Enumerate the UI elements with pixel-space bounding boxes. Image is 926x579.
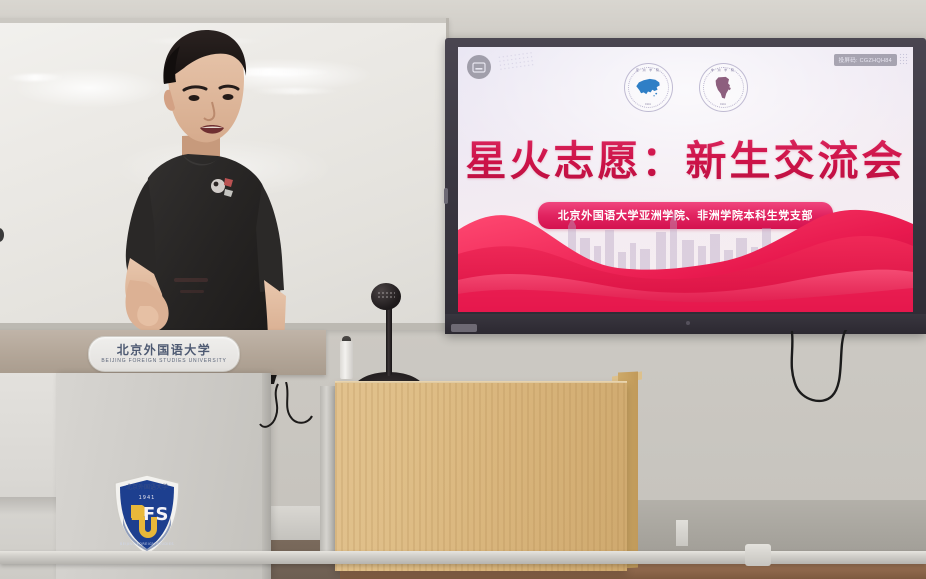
- svg-text:BEIJING FOREIGN STUDIES: BEIJING FOREIGN STUDIES: [120, 542, 174, 546]
- whiteboard-knob: [0, 228, 4, 242]
- asian-studies-emblem-ring-text: · 亚 洲 学 院 ·: [625, 68, 672, 72]
- desk-metal-leg: [320, 386, 336, 562]
- podium-base-shadow: [0, 497, 60, 515]
- whiteboard-frame-top: [0, 18, 446, 23]
- african-studies-emblem-year: 1941: [700, 103, 747, 106]
- asian-studies-emblem: · 亚 洲 学 院 · 1941: [624, 63, 673, 112]
- african-studies-emblem-ring-text: · 非 洲 学 院 ·: [700, 68, 747, 72]
- slide-emblem-row: · 亚 洲 学 院 · 1941 · 非 洲 学 院 ·: [458, 63, 913, 112]
- podium-body: 北京外国语大学 1941 B F S BEIJING FOREIGN STUDI…: [56, 373, 271, 579]
- slide-title: 星火志愿：新生交流会: [458, 127, 913, 187]
- asian-studies-emblem-year: 1941: [625, 103, 672, 106]
- interactive-display[interactable]: 投屏码: CGZHQH84 · 亚 洲 学 院 · 1941: [445, 38, 926, 334]
- microphone-grille: [377, 291, 395, 299]
- rail-clip: [745, 544, 771, 566]
- red-wave-decoration: [458, 202, 913, 312]
- svg-text:S: S: [156, 504, 169, 525]
- podium-left-panel: [0, 373, 58, 579]
- podium-nameplate-cn: 北京外国语大学: [117, 344, 212, 356]
- bfsu-shield-logo: 北京外国语大学 1941 B F S BEIJING FOREIGN STUDI…: [111, 473, 183, 557]
- hanging-black-cable: [760, 330, 920, 440]
- display-side-button[interactable]: [444, 188, 448, 204]
- conference-microphone: [371, 283, 401, 310]
- display-mount-foot: [451, 324, 477, 332]
- presentation-slide: 投屏码: CGZHQH84 · 亚 洲 学 院 · 1941: [458, 47, 913, 312]
- display-screen[interactable]: 投屏码: CGZHQH84 · 亚 洲 学 院 · 1941: [458, 47, 913, 312]
- svg-text:北京外国语大学: 北京外国语大学: [126, 483, 168, 491]
- svg-text:1941: 1941: [139, 495, 156, 501]
- floor-rail: [0, 551, 926, 564]
- hand-sanitizer-bottle: [340, 341, 353, 379]
- podium-nameplate-en: BEIJING FOREIGN STUDIES UNIVERSITY: [101, 358, 226, 364]
- african-studies-emblem: · 非 洲 学 院 · 1941: [699, 63, 748, 112]
- asia-map-icon: [635, 76, 661, 100]
- classroom-scene: 投屏码: CGZHQH84 · 亚 洲 学 院 · 1941: [0, 0, 926, 579]
- wall-base-right: [620, 500, 926, 552]
- podium-nameplate: 北京外国语大学 BEIJING FOREIGN STUDIES UNIVERSI…: [88, 336, 240, 372]
- wooden-front-desk: [335, 383, 627, 571]
- ceiling-light-reflection: [6, 73, 64, 81]
- rail-bracket: [676, 520, 688, 546]
- africa-map-icon: [710, 76, 736, 100]
- podium-cable: [250, 382, 330, 452]
- podium-header-band: 北京外国语大学 BEIJING FOREIGN STUDIES UNIVERSI…: [0, 330, 326, 375]
